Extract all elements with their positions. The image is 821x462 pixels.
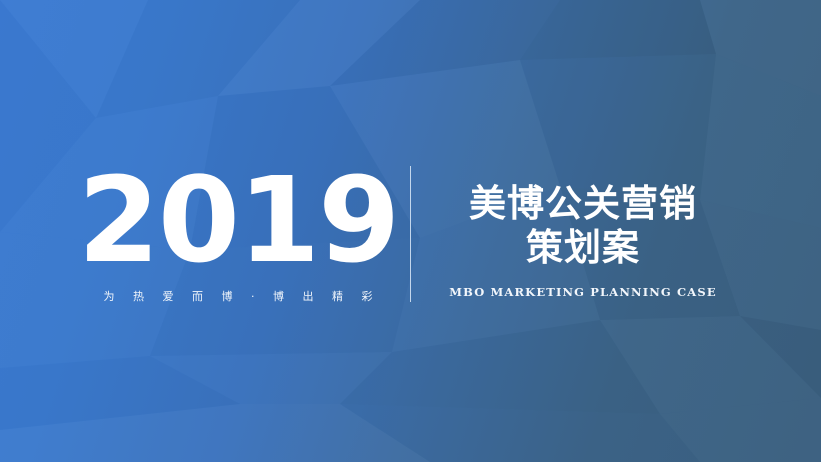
year-block: 2019 为 热 爱 而 博 · 博 出 精 彩: [88, 166, 410, 303]
title-line-2: 策划案: [526, 226, 640, 270]
slide-content: 2019 为 热 爱 而 博 · 博 出 精 彩 美博公关营销 策划案 MBO …: [0, 0, 821, 462]
title-line-1: 美博公关营销: [469, 182, 697, 226]
title-composition: 2019 为 热 爱 而 博 · 博 出 精 彩 美博公关营销 策划案 MBO …: [88, 166, 733, 303]
year-tagline: 为 热 爱 而 博 · 博 出 精 彩: [96, 291, 380, 302]
title-subtitle-english: MBO MARKETING PLANNING CASE: [449, 287, 717, 299]
year-text: 2019: [78, 166, 398, 275]
title-block: 美博公关营销 策划案 MBO MARKETING PLANNING CASE: [411, 166, 733, 303]
title-slide: 2019 为 热 爱 而 博 · 博 出 精 彩 美博公关营销 策划案 MBO …: [0, 0, 821, 462]
vertical-divider: [410, 166, 411, 302]
